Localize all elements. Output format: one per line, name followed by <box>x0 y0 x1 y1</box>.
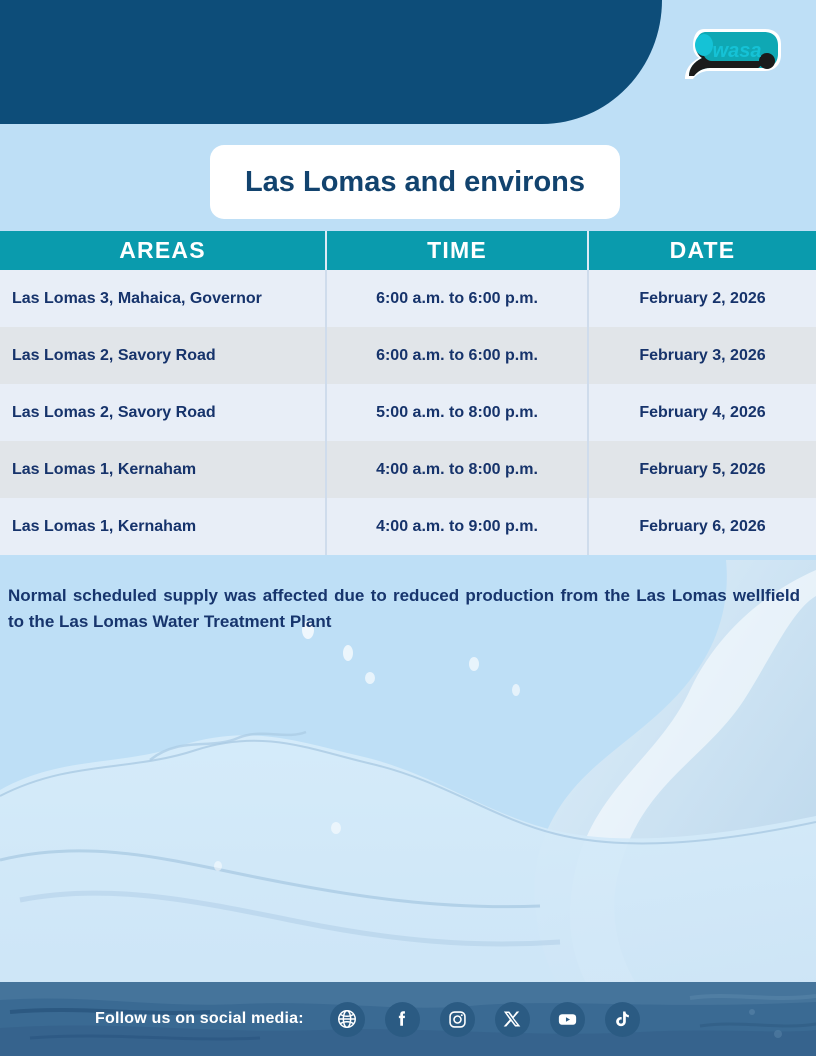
facebook-icon[interactable] <box>385 1002 420 1037</box>
note-text: Normal scheduled supply was affected due… <box>8 583 800 635</box>
follow-us-label: Follow us on social media: <box>95 1010 304 1028</box>
cell-time: 6:00 a.m. to 6:00 p.m. <box>326 327 588 384</box>
cell-time: 4:00 a.m. to 9:00 p.m. <box>326 498 588 555</box>
cell-time: 6:00 a.m. to 6:00 p.m. <box>326 270 588 327</box>
cell-area: Las Lomas 1, Kernaham <box>0 498 326 555</box>
cell-date: February 2, 2026 <box>588 270 816 327</box>
table-row: Las Lomas 2, Savory Road 5:00 a.m. to 8:… <box>0 384 816 441</box>
column-header-areas: AREAS <box>0 231 326 270</box>
cell-date: February 6, 2026 <box>588 498 816 555</box>
wasa-logo: wasa <box>679 25 785 83</box>
cell-date: February 3, 2026 <box>588 327 816 384</box>
cell-area: Las Lomas 2, Savory Road <box>0 384 326 441</box>
tiktok-icon[interactable] <box>605 1002 640 1037</box>
cell-date: February 5, 2026 <box>588 441 816 498</box>
cell-area: Las Lomas 1, Kernaham <box>0 441 326 498</box>
cell-area: Las Lomas 3, Mahaica, Governor <box>0 270 326 327</box>
header-band <box>0 0 662 124</box>
footer-band: Follow us on social media: <box>0 982 816 1056</box>
wasa-logo-text: wasa <box>713 40 762 62</box>
website-globe-icon[interactable] <box>330 1002 365 1037</box>
cell-time: 5:00 a.m. to 8:00 p.m. <box>326 384 588 441</box>
instagram-icon[interactable] <box>440 1002 475 1037</box>
table-body: Las Lomas 3, Mahaica, Governor 6:00 a.m.… <box>0 270 816 555</box>
table-row: Las Lomas 1, Kernaham 4:00 a.m. to 9:00 … <box>0 498 816 555</box>
x-twitter-icon[interactable] <box>495 1002 530 1037</box>
column-header-time: TIME <box>326 231 588 270</box>
cell-date: February 4, 2026 <box>588 384 816 441</box>
subtitle-text: Las Lomas and environs <box>245 166 585 199</box>
table-header-row: AREAS TIME DATE <box>0 231 816 270</box>
table-row: Las Lomas 3, Mahaica, Governor 6:00 a.m.… <box>0 270 816 327</box>
cell-time: 4:00 a.m. to 8:00 p.m. <box>326 441 588 498</box>
flyer-page: Interim Water Supply Schedule wasa Las L… <box>0 0 816 1056</box>
subtitle-pill: Las Lomas and environs <box>210 145 620 219</box>
table-row: Las Lomas 1, Kernaham 4:00 a.m. to 8:00 … <box>0 441 816 498</box>
column-header-date: DATE <box>588 231 816 270</box>
schedule-table: AREAS TIME DATE Las Lomas 3, Mahaica, Go… <box>0 231 816 555</box>
cell-area: Las Lomas 2, Savory Road <box>0 327 326 384</box>
youtube-icon[interactable] <box>550 1002 585 1037</box>
social-links <box>330 1002 640 1037</box>
table-row: Las Lomas 2, Savory Road 6:00 a.m. to 6:… <box>0 327 816 384</box>
